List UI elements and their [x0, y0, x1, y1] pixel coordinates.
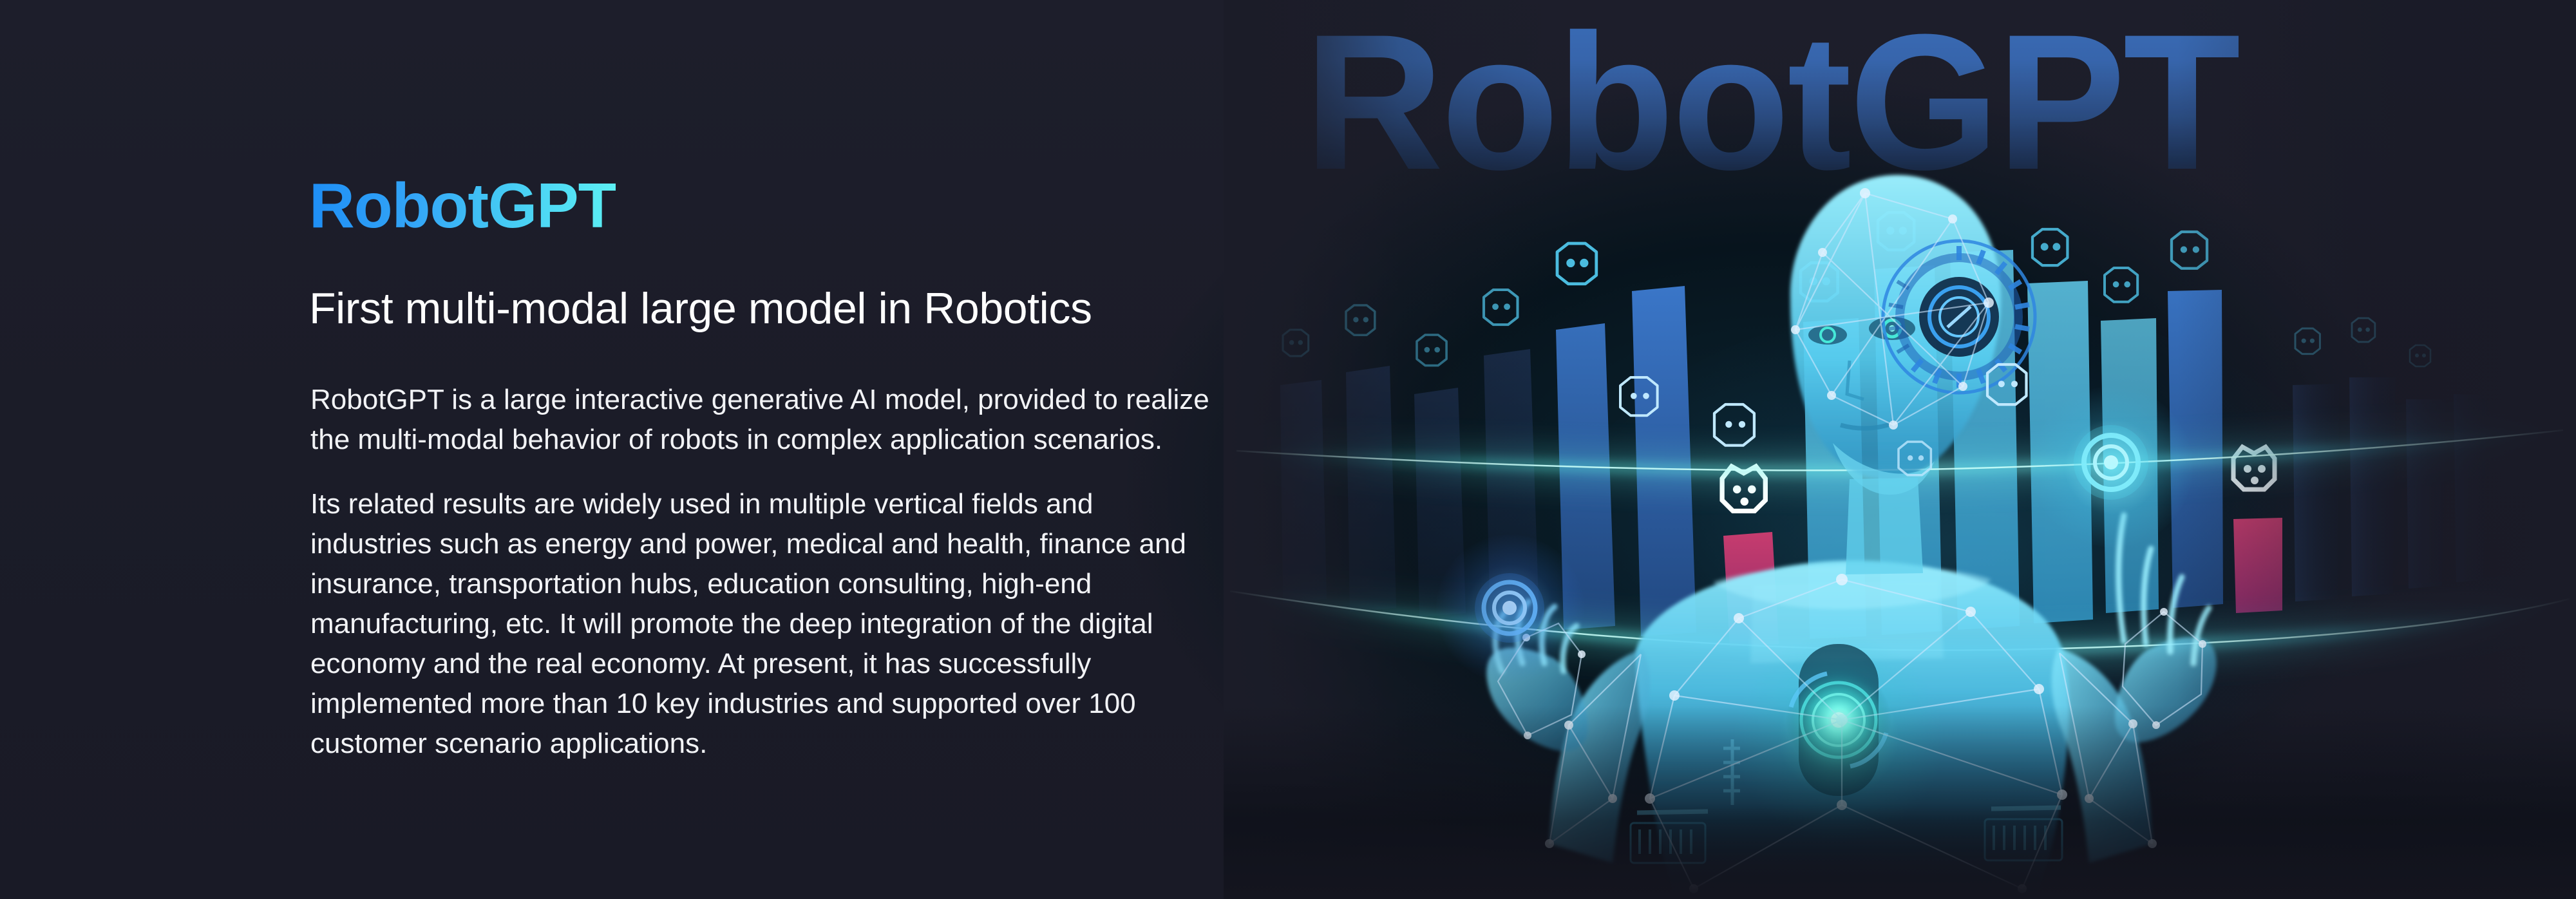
glowing-node-icon-left: [1475, 573, 1544, 643]
robot-eye-left: [1808, 325, 1847, 345]
wireframe-humanoid-robot: [1224, 0, 2576, 899]
page-title: RobotGPT: [309, 174, 616, 237]
page-subtitle: First multi-modal large model in Robotic…: [309, 283, 1092, 334]
robot-right-arm: [2052, 515, 2217, 863]
body-paragraph-1: RobotGPT is a large interactive generati…: [310, 380, 1212, 460]
robotgpt-hero-banner: RobotGPT: [0, 0, 2576, 899]
glowing-node-icon-right: [2074, 425, 2148, 500]
body-paragraph-2: Its related results are widely used in m…: [310, 484, 1212, 764]
hero-text-panel: RobotGPT First multi-modal large model i…: [309, 0, 1224, 899]
hero-illustration: RobotGPT: [1224, 0, 2576, 899]
body-copy: RobotGPT is a large interactive generati…: [310, 380, 1212, 764]
